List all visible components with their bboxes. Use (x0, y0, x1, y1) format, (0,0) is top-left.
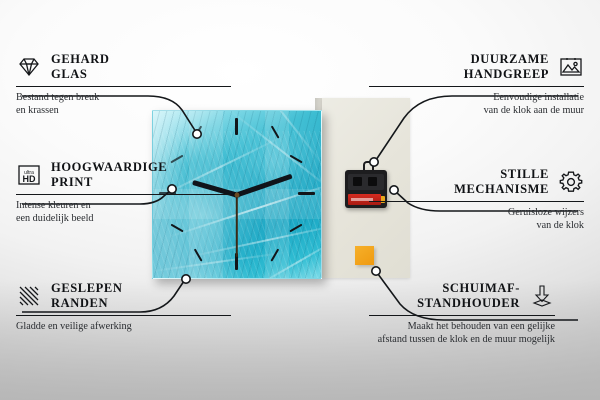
feature-description: Gladde en veilige afwerking (16, 320, 231, 333)
feature-divider (16, 194, 231, 195)
svg-text:HD: HD (23, 174, 36, 184)
arrow-down-spacer-icon (529, 283, 555, 309)
feature-header: DUURZAMEHANDGREEP (369, 52, 584, 82)
feature-divider (369, 315, 555, 316)
feature-header: GEHARDGLAS (16, 52, 231, 82)
feature-header: GESLEPENRANDEN (16, 281, 231, 311)
feature-gehard-glas: GEHARDGLAS Bestand tegen breuken krassen (16, 52, 231, 117)
feature-title: SCHUIMAF-STANDHOUDER (417, 281, 520, 311)
picture-frame-icon (558, 54, 584, 80)
clock-second-hand (236, 195, 238, 257)
movement-slot-left (353, 177, 362, 186)
feature-header: ultra HD HOOGWAARDIGEPRINT (16, 160, 231, 190)
feature-divider (369, 86, 584, 87)
feature-divider (16, 315, 231, 316)
hatched-edge-icon (16, 283, 42, 309)
feature-title: STILLEMECHANISME (454, 167, 549, 197)
feature-description: Eenvoudige installatievan de klok aan de… (369, 91, 584, 118)
feature-hoogwaardige-print: ultra HD HOOGWAARDIGEPRINT Intense kleur… (16, 160, 231, 225)
feature-title: HOOGWAARDIGEPRINT (51, 160, 167, 190)
gear-icon (558, 169, 584, 195)
feature-title: GESLEPENRANDEN (51, 281, 123, 311)
feature-duurzame-handgreep: DUURZAMEHANDGREEP Eenvoudige installatie… (369, 52, 584, 117)
feature-title: DUURZAMEHANDGREEP (464, 52, 549, 82)
feature-geslepen-randen: GESLEPENRANDEN Gladde en veilige afwerki… (16, 281, 231, 333)
feature-description: Intense kleuren eneen duidelijk beeld (16, 199, 231, 226)
feature-header: SCHUIMAF-STANDHOUDER (369, 281, 555, 311)
feature-divider (369, 201, 584, 202)
feature-stille-mechanisme: STILLEMECHANISME Geruisloze wijzersvan d… (369, 167, 584, 232)
feature-header: STILLEMECHANISME (369, 167, 584, 197)
clock-tick-12 (235, 118, 238, 135)
feature-description: Maakt het behouden van een gelijkeafstan… (369, 320, 555, 347)
feature-title: GEHARDGLAS (51, 52, 109, 82)
ultra-hd-icon: ultra HD (16, 162, 42, 188)
feature-description: Geruisloze wijzersvan de klok (369, 206, 584, 233)
feature-description: Bestand tegen breuken krassen (16, 91, 231, 118)
feature-divider (16, 86, 231, 87)
clock-center-pivot (235, 192, 240, 197)
feature-schuimafstandhouder: SCHUIMAF-STANDHOUDER Maakt het behouden … (369, 281, 555, 346)
foam-spacer (355, 246, 374, 265)
diamond-icon (16, 54, 42, 80)
clock-tick-3 (298, 192, 315, 195)
product-infographic: GEHARDGLAS Bestand tegen breuken krassen… (0, 0, 600, 400)
